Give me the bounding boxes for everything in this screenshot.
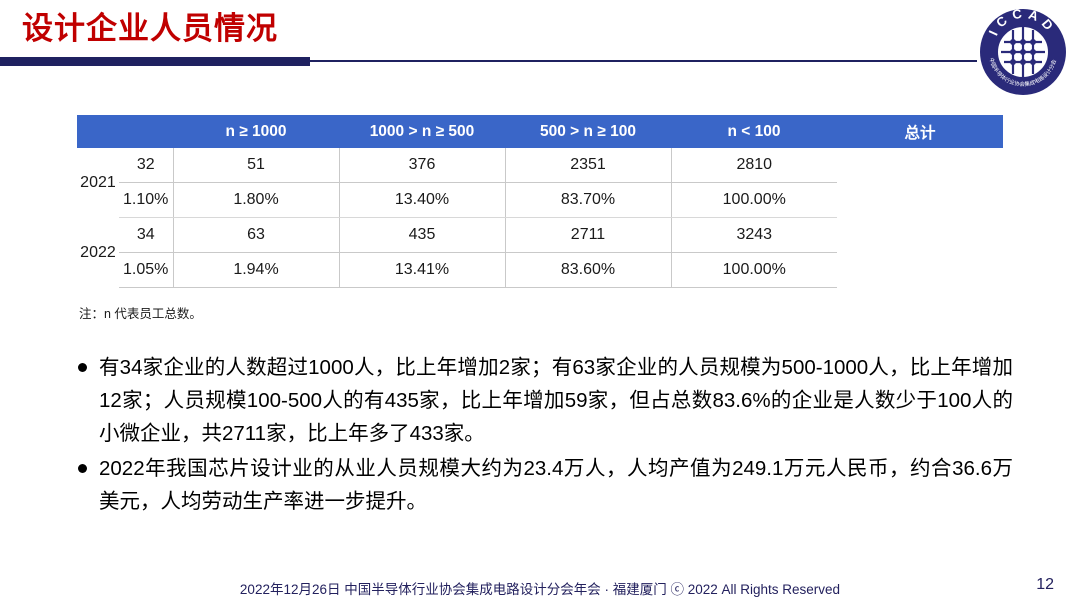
table-row: 1.10% 1.80% 13.40% 83.70% 100.00% [77,183,1003,218]
cell-2022-pct-3: 83.60% [505,253,671,288]
cell-2021-pct-0: 1.10% [119,183,173,218]
page-title: 设计企业人员情况 [22,8,278,50]
col-header-0: n ≥ 1000 [173,115,339,148]
col-header-3: n < 100 [671,115,837,148]
cell-2022-count-1: 63 [173,218,339,253]
table-corner-cell [77,115,173,148]
cell-2021-count-0: 32 [119,148,173,183]
footer-text: 2022年12月26日 中国半导体行业协会集成电路设计分会年会 · 福建厦门 ⓒ… [0,578,1080,598]
bullet-dot-icon [78,464,87,473]
cell-2021-pct-1: 1.80% [173,183,339,218]
col-header-4: 总计 [837,115,1003,148]
cell-2022-count-0: 34 [119,218,173,253]
table-row: 2022 34 63 435 2711 3243 [77,218,1003,253]
cell-2021-count-2: 376 [339,148,505,183]
col-header-2: 500 > n ≥ 100 [505,115,671,148]
cell-2022-pct-2: 13.41% [339,253,505,288]
cell-2022-pct-4: 100.00% [671,253,837,288]
bullet-dot-icon [78,363,87,372]
cell-2021-count-4: 2810 [671,148,837,183]
table-note: 注：n 代表员工总数。 [79,303,202,322]
cell-2021-pct-2: 13.40% [339,183,505,218]
bullet-list: 有34家企业的人数超过1000人，比上年增加2家；有63家企业的人员规模为500… [78,351,1013,520]
cell-2021-pct-4: 100.00% [671,183,837,218]
personnel-table: n ≥ 1000 1000 > n ≥ 500 500 > n ≥ 100 n … [77,115,1003,288]
iccad-logo: I C C A D 中国半导体行业协会集成电路设计分会 [979,8,1067,96]
cell-2022-count-2: 435 [339,218,505,253]
page-number: 12 [1036,576,1054,594]
cell-2021-count-3: 2351 [505,148,671,183]
list-item: 2022年我国芯片设计业的从业人员规模大约为23.4万人，人均产值为249.1万… [78,452,1013,518]
table-row: 1.05% 1.94% 13.41% 83.60% 100.00% [77,253,1003,288]
bullet-text-0: 有34家企业的人数超过1000人，比上年增加2家；有63家企业的人员规模为500… [99,351,1013,450]
cell-2022-count-4: 3243 [671,218,837,253]
cell-2021-pct-3: 83.70% [505,183,671,218]
cell-2022-pct-0: 1.05% [119,253,173,288]
list-item: 有34家企业的人数超过1000人，比上年增加2家；有63家企业的人员规模为500… [78,351,1013,450]
cell-2022-count-3: 2711 [505,218,671,253]
year-label-2022: 2022 [77,218,119,288]
table-row: 2021 32 51 376 2351 2810 [77,148,1003,183]
year-label-2021: 2021 [77,148,119,218]
cell-2021-count-1: 51 [173,148,339,183]
title-rule-thick [0,57,310,66]
cell-2022-pct-1: 1.94% [173,253,339,288]
col-header-1: 1000 > n ≥ 500 [339,115,505,148]
table-header-row: n ≥ 1000 1000 > n ≥ 500 500 > n ≥ 100 n … [77,115,1003,148]
bullet-text-1: 2022年我国芯片设计业的从业人员规模大约为23.4万人，人均产值为249.1万… [99,452,1013,518]
title-rule-thin [310,60,977,62]
